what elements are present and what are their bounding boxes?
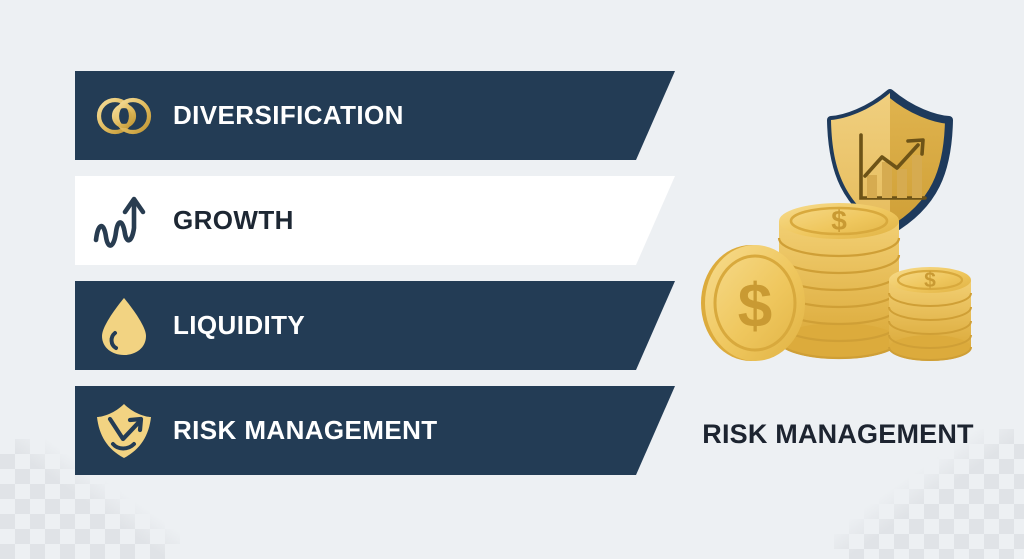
banner-risk-management[interactable]: RISK MANAGEMENT <box>75 386 675 475</box>
principles-banner-list: DIVERSIFICATION GROWTH LIQUIDITY <box>75 71 675 491</box>
banner-diversification[interactable]: DIVERSIFICATION <box>75 71 675 160</box>
banner-label-liquidity: LIQUIDITY <box>173 310 305 341</box>
illustration-caption: RISK MANAGEMENT <box>693 419 983 450</box>
interlocking-rings-icon <box>75 71 173 160</box>
banner-liquidity[interactable]: LIQUIDITY <box>75 281 675 370</box>
banner-label-diversification: DIVERSIFICATION <box>173 100 404 131</box>
coin-dollar-sign: $ <box>831 205 847 236</box>
banner-label-risk-management: RISK MANAGEMENT <box>173 415 438 446</box>
coin-dollar-sign: $ <box>738 272 772 341</box>
banner-growth[interactable]: GROWTH <box>75 176 675 265</box>
coin-dollar-sign: $ <box>924 269 936 292</box>
shield-check-arrow-icon <box>75 386 173 475</box>
risk-management-illustration: $ $ <box>693 83 978 373</box>
water-droplet-icon <box>75 281 173 370</box>
banner-label-growth: GROWTH <box>173 205 294 236</box>
gold-coin-standing: $ <box>701 245 805 361</box>
zigzag-growth-arrow-icon <box>75 176 173 265</box>
gold-coin-stack-short: $ <box>889 267 971 361</box>
infographic-canvas: DIVERSIFICATION GROWTH LIQUIDITY <box>0 0 1024 559</box>
